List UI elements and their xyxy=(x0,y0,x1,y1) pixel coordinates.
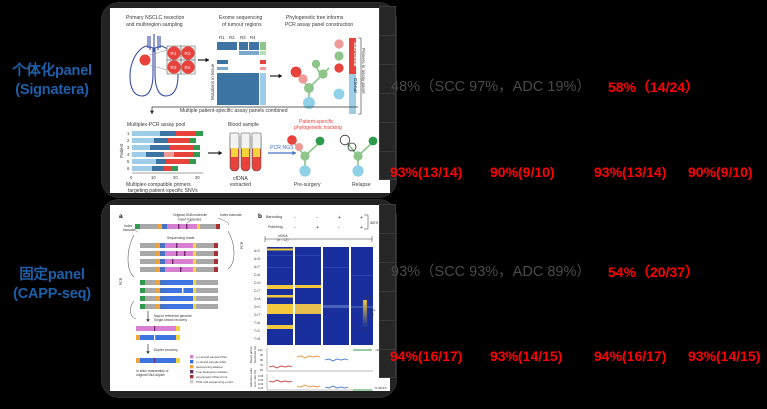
detail-value-3-fixed: 94%(16/17) xyxy=(594,345,666,367)
strip-cell[interactable] xyxy=(379,122,396,151)
svg-text:+: + xyxy=(316,225,319,231)
svg-text:True biological mutation: True biological mutation xyxy=(196,370,228,374)
svg-text:0.02: 0.02 xyxy=(258,386,264,390)
strip-cell[interactable] xyxy=(379,204,396,233)
svg-text:PCR and sequencing errors: PCR and sequencing errors xyxy=(196,380,234,384)
svg-text:Primary NSCLC resection: Primary NSCLC resection xyxy=(126,15,184,21)
svg-text:Multiplex-PCR assay pool: Multiplex-PCR assay pool xyxy=(127,122,185,128)
row-label-fixed-sub: (CAPP-seq) xyxy=(0,285,104,304)
svg-text:<0.0016%: <0.0016% xyxy=(374,386,387,390)
svg-text:and multiregion sampling: and multiregion sampling xyxy=(126,22,183,28)
detail-value-4-fixed: 93%(14/15) xyxy=(688,345,760,367)
strip-cell[interactable] xyxy=(379,291,396,320)
strip-cell[interactable] xyxy=(379,233,396,262)
detail-value-2-personalized: 90%(9/10) xyxy=(490,161,555,183)
svg-text:R2: R2 xyxy=(185,51,191,56)
specificity-value-fixed: 54%（20/37） xyxy=(608,261,699,283)
svg-text:+: + xyxy=(360,215,363,221)
svg-text:of tumour regions: of tumour regions xyxy=(222,22,262,28)
sensitivity-value-fixed: 93%（SCC 93%，ADC 89%） xyxy=(391,261,591,283)
svg-text:Index barcode: Index barcode xyxy=(220,213,242,217)
svg-text:rate: rate xyxy=(369,312,374,316)
svg-text:C>T: C>T xyxy=(254,289,260,293)
detail-value-2-fixed: 93%(14/15) xyxy=(490,345,562,367)
detail-value-1-fixed: 94%(16/17) xyxy=(390,345,462,367)
svg-text:T>A: T>A xyxy=(254,321,261,325)
svg-text:A>C: A>C xyxy=(254,249,261,253)
svg-text:Phylogenetic tree informs: Phylogenetic tree informs xyxy=(286,15,344,21)
svg-text:PCR NGS: PCR NGS xyxy=(270,145,294,151)
svg-text:0%: 0% xyxy=(363,328,368,332)
result-row-personalized-summary: 48%（SCC 97%，ADC 19%） 58%（14/24） xyxy=(0,76,767,98)
strip-cell[interactable] xyxy=(379,6,396,35)
svg-text:+: + xyxy=(338,215,341,221)
svg-text:0.04: 0.04 xyxy=(258,382,264,386)
svg-text:Single-strand recovery: Single-strand recovery xyxy=(154,318,187,322)
svg-text:b: b xyxy=(258,213,262,220)
svg-text:PCR: PCR xyxy=(240,241,244,249)
svg-text:a: a xyxy=(119,213,123,220)
svg-text:0.03%: 0.03% xyxy=(363,295,372,299)
svg-text:Sequencing reads: Sequencing reads xyxy=(167,236,195,240)
svg-text:R4: R4 xyxy=(185,65,191,70)
svg-text:(n = 12): (n = 12) xyxy=(277,238,288,242)
svg-text:Multiple patient-specific assa: Multiple patient-specific assay panels c… xyxy=(180,108,288,114)
svg-text:0.06: 0.06 xyxy=(258,378,264,382)
svg-text:R1: R1 xyxy=(171,51,177,56)
svg-text:iDES: iDES xyxy=(370,221,379,225)
svg-text:R1: R1 xyxy=(219,35,225,40)
svg-text:+: + xyxy=(360,225,363,231)
svg-text:Sub-clonal: Sub-clonal xyxy=(352,42,358,67)
svg-text:Patient: Patient xyxy=(119,143,124,158)
svg-text:barcode: barcode xyxy=(123,228,135,232)
detail-value-1-personalized: 93%(13/14) xyxy=(390,161,462,183)
sensitivity-value-personalized: 48%（SCC 97%，ADC 19%） xyxy=(391,76,591,98)
result-row-fixed-detail: 94%(16/17) 93%(14/15) 94%(16/17) 93%(14/… xyxy=(0,345,767,367)
svg-text:R4: R4 xyxy=(250,35,256,40)
svg-text:Asymmetric DNA errors: Asymmetric DNA errors xyxy=(196,375,228,379)
svg-text:0.08: 0.08 xyxy=(258,374,264,378)
svg-text:PCR assay panel construction: PCR assay panel construction xyxy=(285,22,353,28)
svg-text:T>G: T>G xyxy=(254,337,261,341)
svg-text:Barcoding: Barcoding xyxy=(266,215,282,219)
svg-text:Blood sample: Blood sample xyxy=(228,122,259,128)
svg-text:60: 60 xyxy=(260,368,263,372)
svg-text:R2: R2 xyxy=(229,35,235,40)
strip-cell[interactable] xyxy=(379,35,396,64)
svg-text:R3: R3 xyxy=(171,65,177,70)
svg-text:G>C: G>C xyxy=(254,305,261,309)
svg-text:targeting patient-specific SNV: targeting patient-specific SNVs xyxy=(128,188,198,193)
result-row-fixed-summary: 93%（SCC 93%，ADC 89%） 54%（20/37） xyxy=(0,261,767,283)
svg-text:Original DNA molecule: Original DNA molecule xyxy=(173,213,207,217)
detail-value-3-personalized: 93%(13/14) xyxy=(594,161,666,183)
svg-text:phylogenetic tracking: phylogenetic tracking xyxy=(294,125,342,131)
detail-value-4-personalized: 90%(9/10) xyxy=(688,161,753,183)
svg-text:G>A: G>A xyxy=(254,297,261,301)
svg-text:R3: R3 xyxy=(240,35,246,40)
result-row-personalized-detail: 93%(13/14) 90%(9/10) 93%(13/14) 90%(9/10… xyxy=(0,161,767,183)
svg-text:Exome sequencing: Exome sequencing xyxy=(219,15,262,21)
svg-text:Polishing: Polishing xyxy=(268,225,283,229)
svg-text:T>C: T>C xyxy=(254,329,261,333)
specificity-value-personalized: 58%（14/24） xyxy=(608,76,699,98)
svg-text:original DNA duplex: original DNA duplex xyxy=(136,373,165,377)
svg-text:error rate (%): error rate (%) xyxy=(253,370,257,387)
svg-text:G>T: G>T xyxy=(254,313,260,317)
